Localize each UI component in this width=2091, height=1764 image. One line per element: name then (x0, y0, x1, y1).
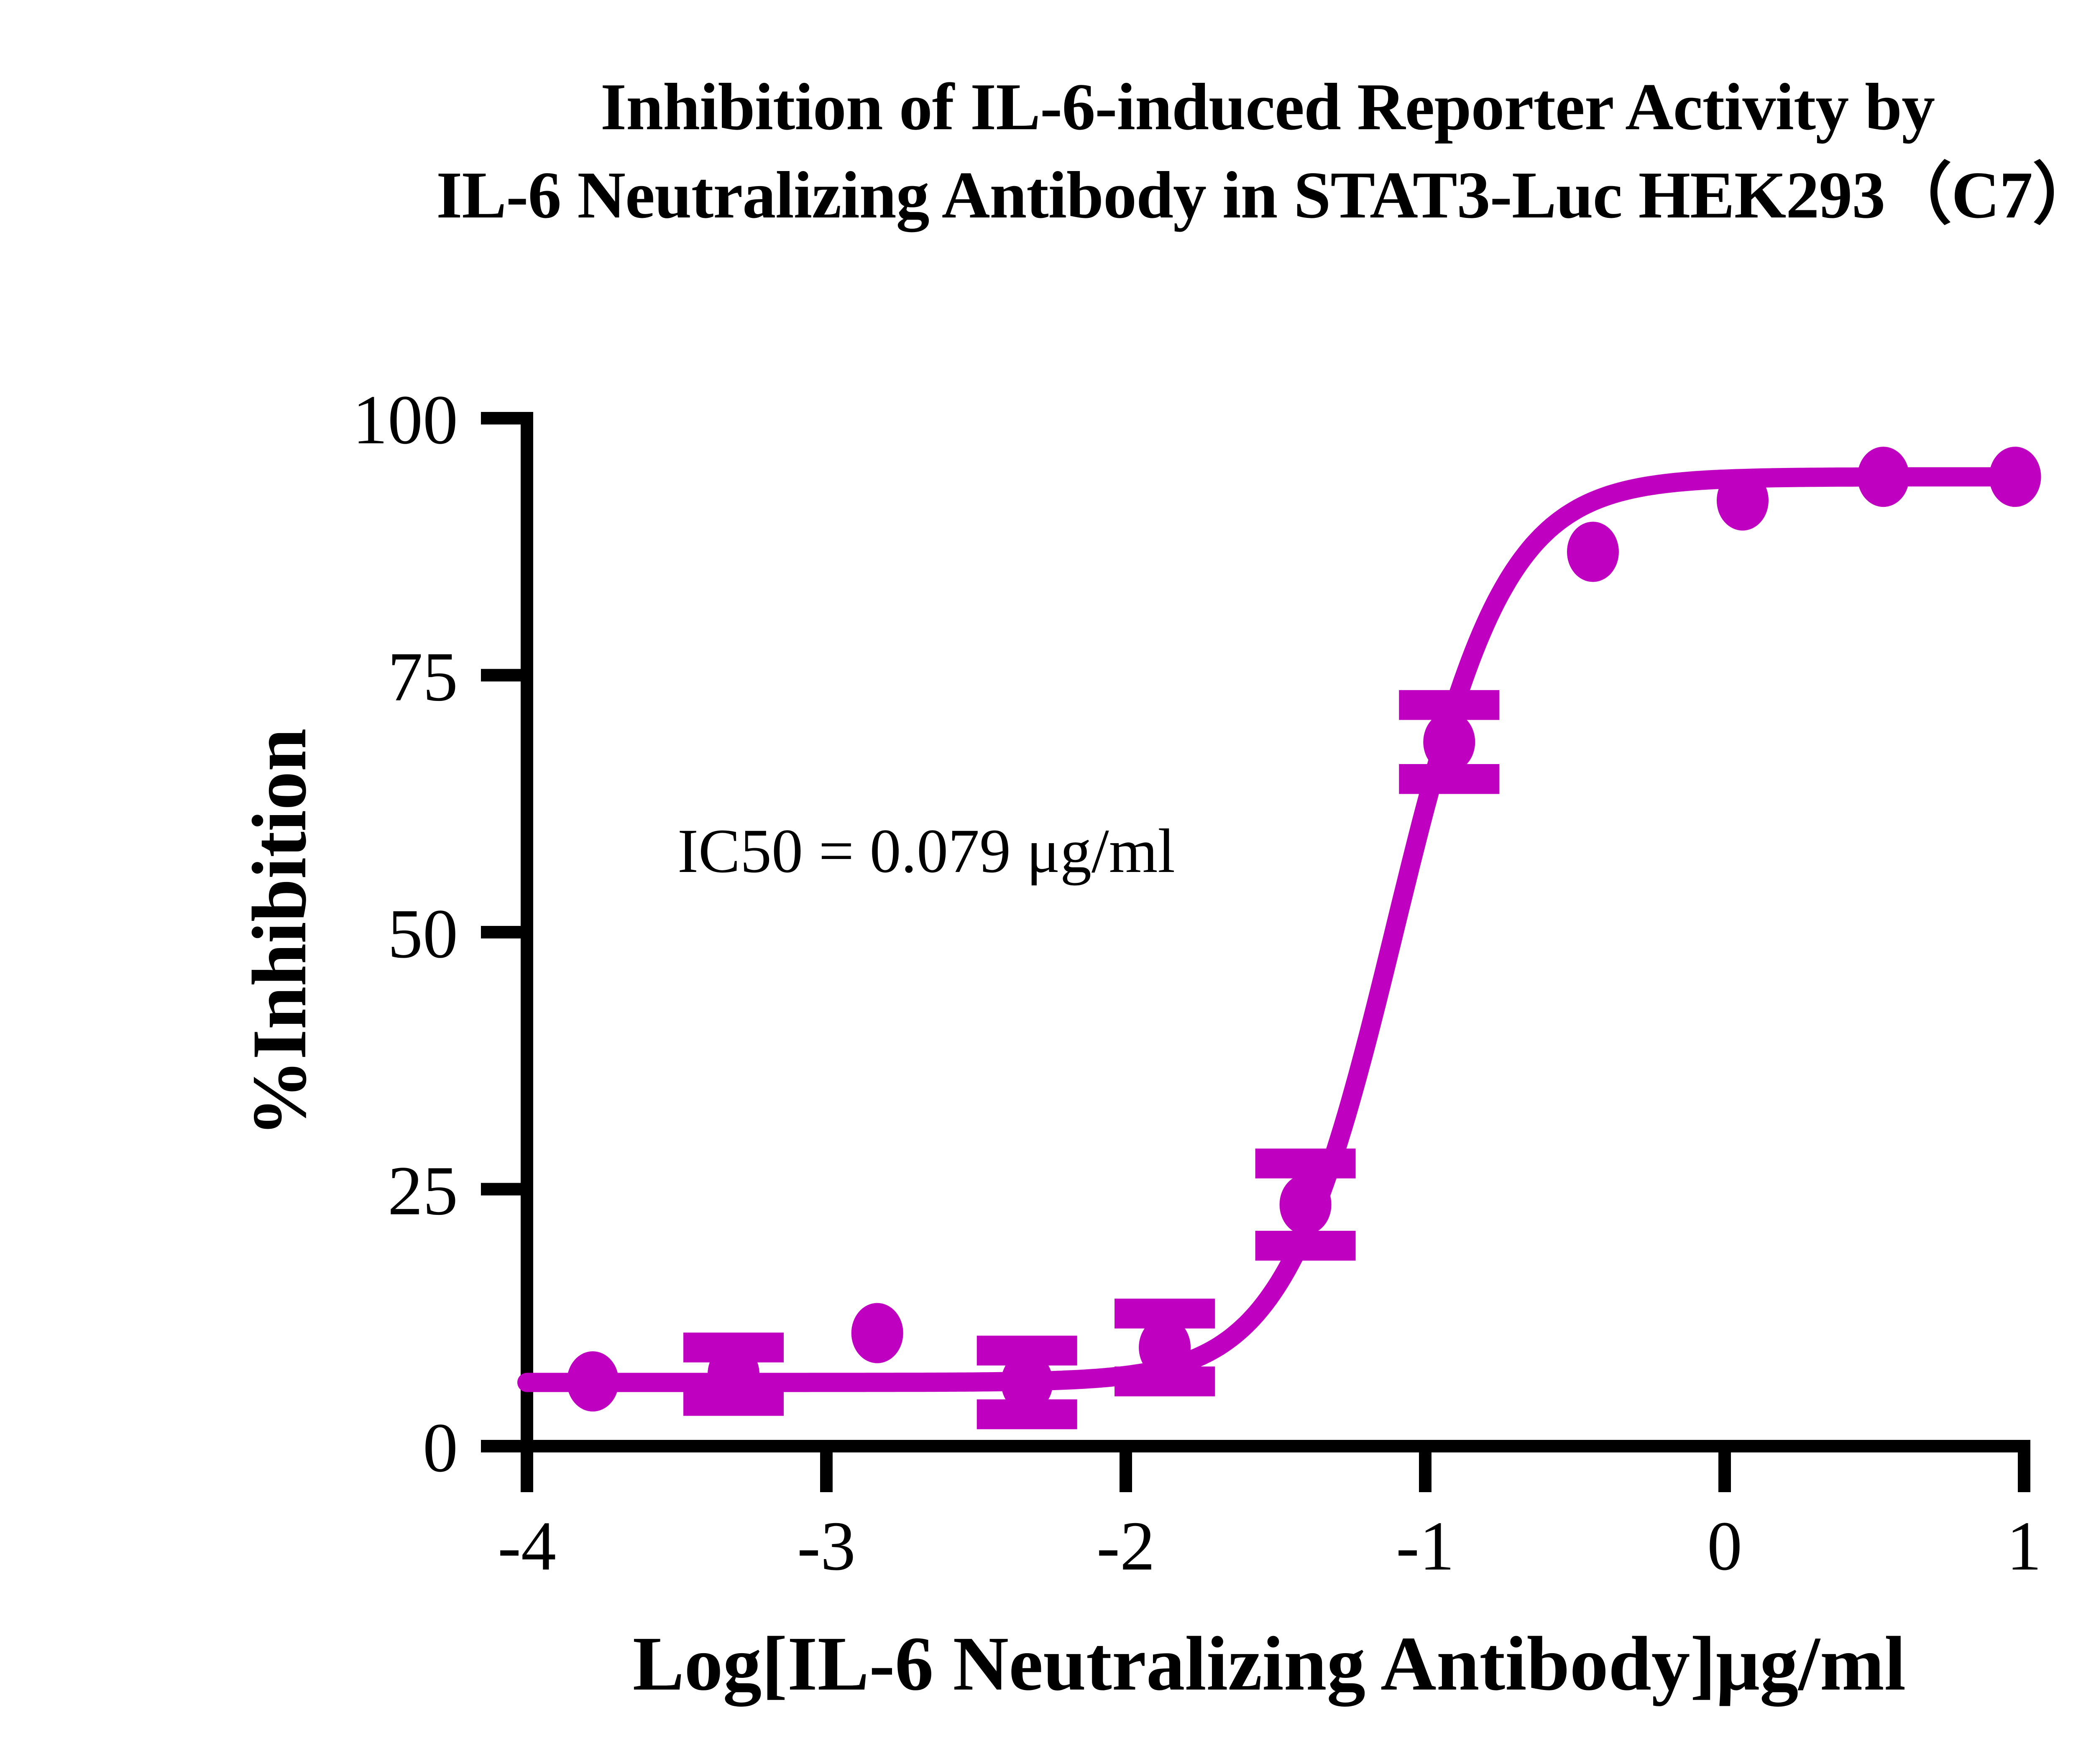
data-point-marker (1989, 447, 2041, 507)
y-axis-tick-labels: 0255075100 (353, 381, 458, 1487)
y-axis-title: %Inhibition (237, 729, 322, 1137)
data-point-marker (1280, 1174, 1332, 1235)
x-axis-tick-label: 1 (2007, 1507, 2042, 1585)
ic50-annotation: IC50 = 0.079 μg/ml (677, 816, 1175, 886)
y-axis-tick-label: 25 (388, 1152, 458, 1230)
y-axis-tick-label: 75 (388, 638, 458, 716)
data-point-marker (708, 1344, 759, 1404)
data-point-marker (1857, 447, 1909, 507)
x-axis-title: Log[IL-6 Neutralizing Antibody]μg/ml (633, 1621, 1906, 1707)
data-point-marker (1001, 1352, 1053, 1413)
x-axis (521, 1446, 2030, 1492)
data-markers (567, 447, 2041, 1412)
x-axis-tick-label: -3 (797, 1507, 856, 1585)
error-bars (683, 705, 1499, 1414)
data-point-marker (851, 1303, 903, 1363)
y-axis-tick-label: 0 (423, 1409, 458, 1487)
y-axis-tick-label: 100 (353, 381, 458, 459)
x-axis-tick-labels: -4-3-2-101 (498, 1507, 2042, 1585)
x-axis-tick-label: -1 (1396, 1507, 1454, 1585)
data-point-marker (567, 1351, 619, 1411)
data-point-marker (1423, 712, 1475, 772)
x-axis-tick-label: -2 (1097, 1507, 1155, 1585)
figure-canvas: Inhibition of IL-6-induced Reporter Acti… (0, 0, 2091, 1764)
y-axis (481, 412, 527, 1446)
data-point-marker (1717, 470, 1769, 531)
dose-response-plot: %Inhibition 0255075100 -4-3-2-101 IC50 =… (0, 0, 2091, 1764)
y-axis-tick-label: 50 (388, 895, 458, 973)
x-axis-tick-label: -4 (498, 1507, 556, 1585)
x-axis-tick-label: 0 (1707, 1507, 1742, 1585)
data-point-marker (1139, 1317, 1191, 1378)
data-point-marker (1567, 522, 1619, 582)
